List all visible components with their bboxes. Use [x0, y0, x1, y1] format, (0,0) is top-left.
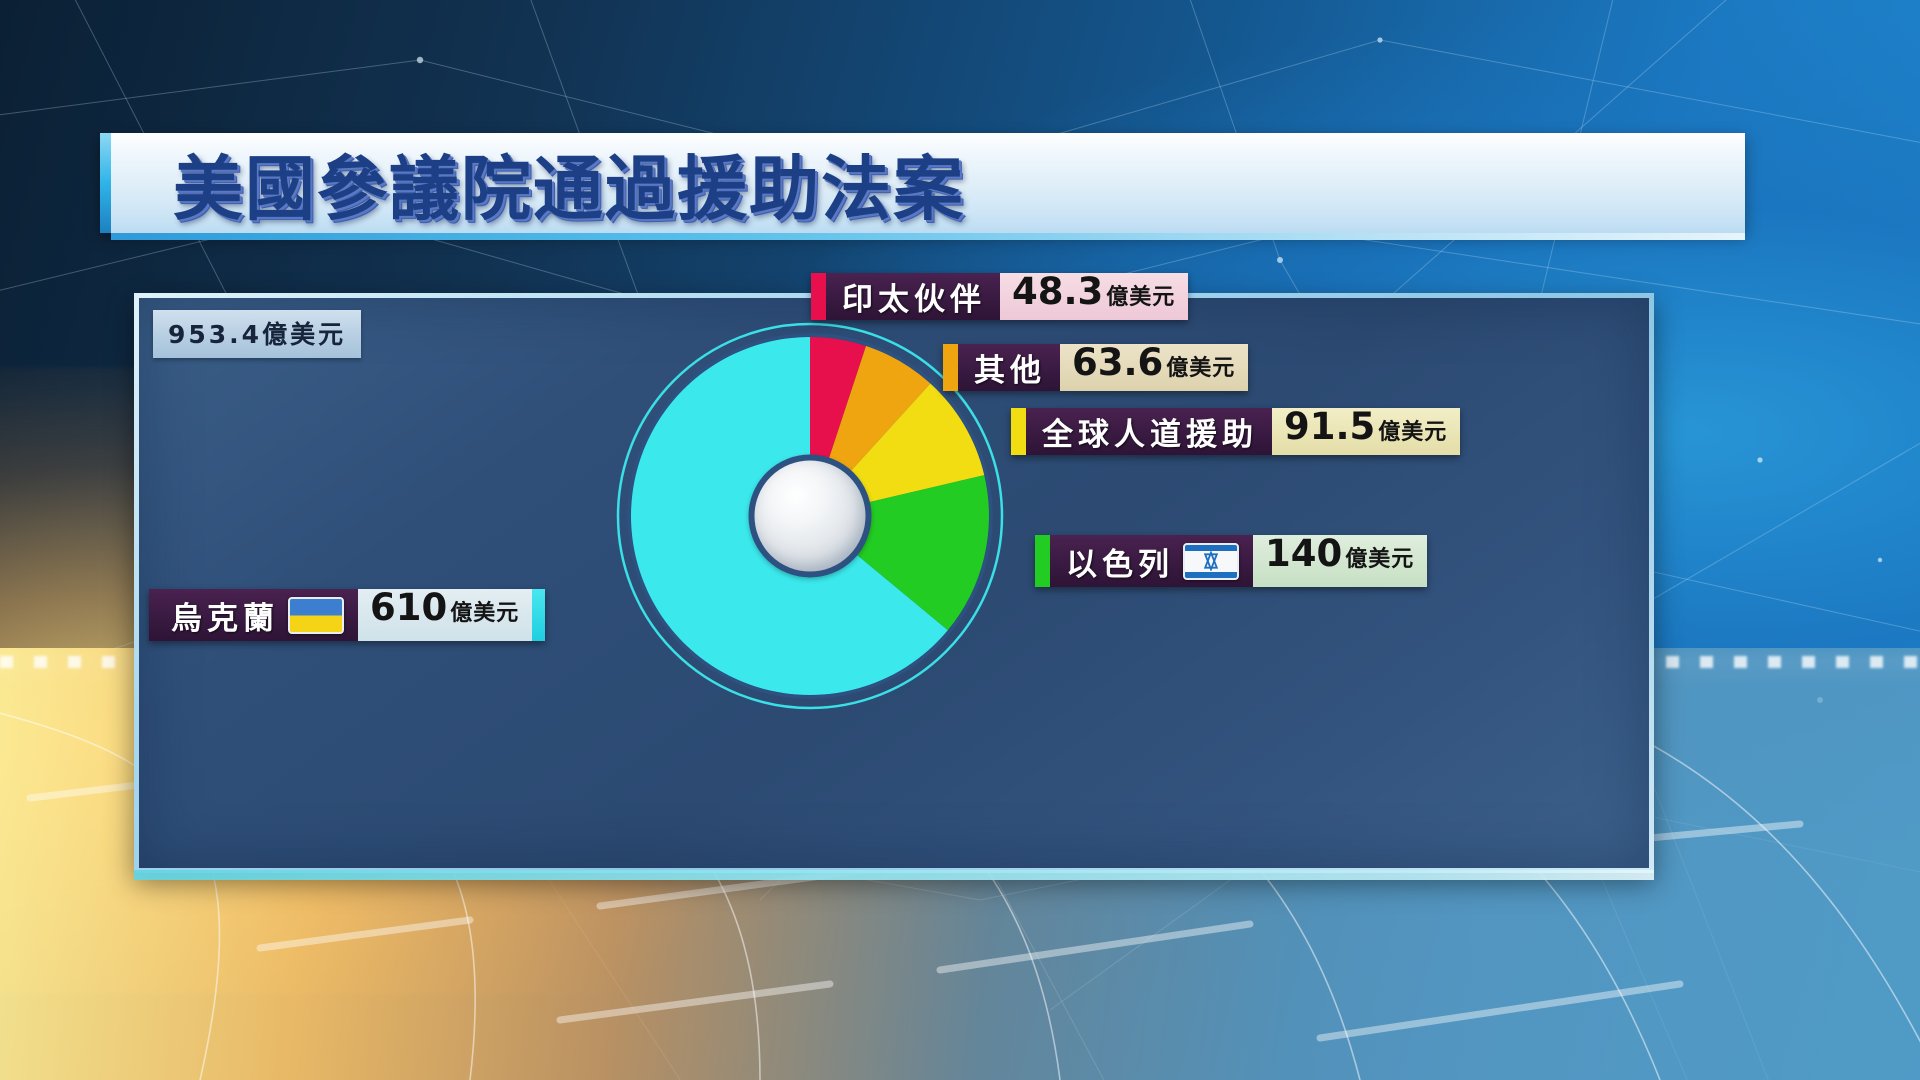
value-unit-indo-pacific: 億美元: [1106, 279, 1175, 311]
swatch-israel: [1035, 535, 1050, 587]
callout-value-indo-pacific: 48.3 億美元: [1000, 273, 1188, 320]
value-number-global-humanitarian: 91.5: [1284, 408, 1375, 445]
value-unit-israel: 億美元: [1345, 541, 1414, 573]
value-unit-global-humanitarian: 億美元: [1378, 414, 1447, 446]
callout-label-israel: 以色列: [1050, 535, 1253, 587]
callout-label-ukraine: 烏克蘭: [149, 589, 358, 641]
callout-ukraine-end-cap: [532, 589, 545, 641]
callout-label-global-humanitarian: 全球人道援助: [1026, 408, 1272, 455]
callout-label-indo-pacific: 印太伙伴: [826, 273, 1000, 320]
callout-israel[interactable]: 以色列 140 億美元: [1035, 535, 1427, 587]
israel-flag-stripe-bottom: [1185, 572, 1237, 578]
israel-flag-icon: [1183, 543, 1239, 580]
ukraine-flag-icon: [288, 597, 344, 634]
callout-value-israel: 140 億美元: [1253, 535, 1427, 587]
value-unit-ukraine: 億美元: [450, 595, 519, 627]
value-number-ukraine: 610: [370, 589, 447, 626]
page-title: 美國參議院通過援助法案: [173, 133, 965, 234]
value-unit-others: 億美元: [1166, 350, 1235, 382]
swatch-global-humanitarian: [1011, 408, 1026, 455]
value-number-others: 63.6: [1072, 344, 1163, 381]
callout-value-ukraine: 610 億美元: [358, 589, 532, 641]
total-amount-badge: 953.4億美元: [153, 310, 361, 358]
donut-center-hub: [749, 455, 872, 578]
value-number-indo-pacific: 48.3: [1012, 273, 1103, 310]
callout-ukraine[interactable]: 烏克蘭 610 億美元: [149, 589, 545, 641]
callout-indo-pacific[interactable]: 印太伙伴 48.3 億美元: [811, 273, 1188, 320]
callout-others[interactable]: 其他 63.6 億美元: [943, 344, 1248, 391]
callout-label-ukraine-text: 烏克蘭: [171, 593, 279, 638]
callout-global-humanitarian[interactable]: 全球人道援助 91.5 億美元: [1011, 408, 1460, 455]
chart-panel: 953.4億美元 印太伙伴 48.3 億美元 其他 63.6 億美元 全球人道援…: [134, 293, 1654, 873]
israel-flag-stripe-top: [1185, 545, 1237, 551]
callout-label-israel-text: 以色列: [1066, 539, 1174, 584]
star-of-david-icon: [1201, 551, 1221, 571]
callout-label-others: 其他: [958, 344, 1060, 391]
value-number-israel: 140: [1265, 535, 1342, 572]
headline-bar: 美國參議院通過援助法案: [100, 133, 1745, 233]
callout-value-others: 63.6 億美元: [1060, 344, 1248, 391]
swatch-indo-pacific: [811, 273, 826, 320]
callout-value-global-humanitarian: 91.5 億美元: [1272, 408, 1460, 455]
swatch-others: [943, 344, 958, 391]
